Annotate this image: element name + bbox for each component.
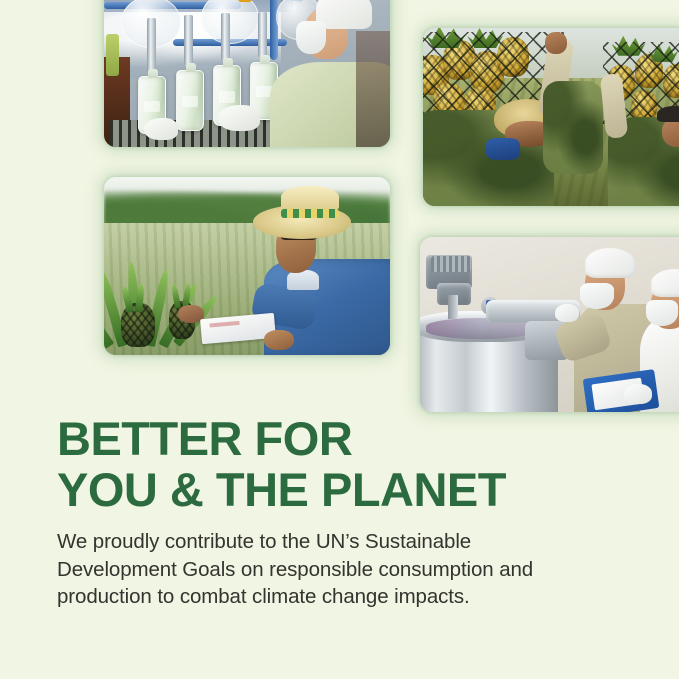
farmer-hat-crown (281, 186, 339, 210)
headline-line-2: YOU & THE PLANET (57, 464, 617, 515)
body-line-3: production to combat climate change impa… (57, 583, 602, 611)
technician-hairnet (585, 248, 635, 278)
body-line-2: Development Goals on responsible consump… (57, 556, 602, 584)
background-shelf (356, 31, 390, 147)
green-bottle-prop (106, 34, 119, 76)
headline-line-1: BETTER FOR (57, 413, 617, 464)
inspector-glove (624, 384, 652, 404)
processing-plant-scene (420, 237, 679, 412)
filling-nozzle (147, 18, 156, 73)
valve-cap (238, 0, 252, 2)
farmer-hand-right (264, 330, 294, 350)
body-copy: We proudly contribute to the UN’s Sustai… (57, 528, 602, 611)
technician-glove (555, 304, 579, 322)
bottling-line-scene (104, 0, 390, 147)
pineapple-field-photo (104, 177, 390, 355)
inspector-face-mask (646, 300, 678, 326)
pineapple-harvest-scene (423, 28, 679, 206)
worker-sleeve-camo (543, 81, 603, 174)
worker-face-mask (296, 21, 326, 54)
filling-nozzle (221, 13, 230, 61)
filling-nozzle (184, 15, 193, 67)
processing-plant-photo (420, 237, 679, 412)
product-bottle (176, 70, 204, 131)
body-line-1: We proudly contribute to the UN’s Sustai… (57, 528, 602, 556)
worker-hair (657, 106, 679, 122)
pineapple-field-scene (104, 177, 390, 355)
farmer-hat-band (281, 209, 339, 218)
agitator-shaft (448, 295, 458, 320)
worker-glove (144, 118, 178, 140)
filling-nozzle (258, 12, 267, 57)
worker-glove (218, 105, 260, 131)
motor-cooling-fins (431, 256, 471, 272)
technician-face-mask (580, 283, 614, 309)
bottling-line-photo (104, 0, 390, 147)
worker-hand (545, 32, 567, 54)
worker-blue-collar (486, 138, 520, 160)
pineapple-harvest-photo (423, 28, 679, 206)
page-title: BETTER FOR YOU & THE PLANET (57, 413, 617, 515)
